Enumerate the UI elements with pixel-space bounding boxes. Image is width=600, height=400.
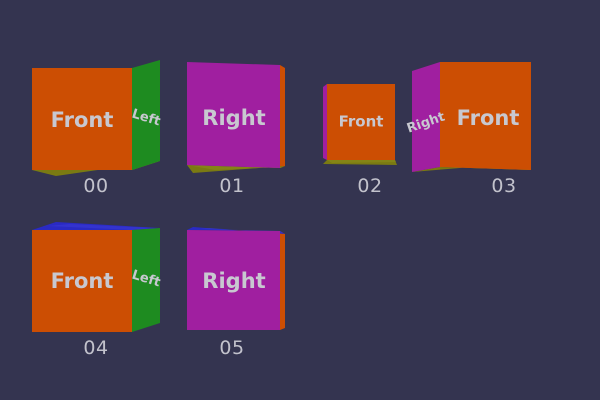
cube-face-front-label: Right — [202, 269, 265, 293]
cube-face-front-sliver — [280, 231, 285, 330]
cube-face-front-label: Front — [51, 108, 114, 132]
cube-render-03: Front Right — [400, 0, 600, 200]
cube-index-02: 02 — [350, 175, 390, 197]
cube-face-front-label: Front — [51, 269, 114, 293]
cube-grid-canvas: Front Left 00 Right 01 Front 0 — [0, 0, 600, 400]
cube-index-04: 04 — [76, 337, 116, 359]
cube-item-04[interactable]: Front Left — [0, 160, 200, 360]
cube-face-right-sliver — [323, 84, 327, 160]
cube-render-05: Right — [175, 160, 335, 360]
cube-item-05[interactable]: Right — [175, 160, 335, 360]
cube-index-05: 05 — [212, 337, 252, 359]
cube-face-front-label: Right — [202, 106, 265, 130]
cube-item-03[interactable]: Front Right — [400, 0, 600, 200]
cube-face-front-label: Front — [339, 113, 384, 131]
cube-face-front-sliver — [280, 65, 285, 168]
cube-index-03: 03 — [484, 175, 524, 197]
cube-render-04: Front Left — [0, 160, 200, 360]
cube-face-front-label: Front — [457, 106, 520, 130]
